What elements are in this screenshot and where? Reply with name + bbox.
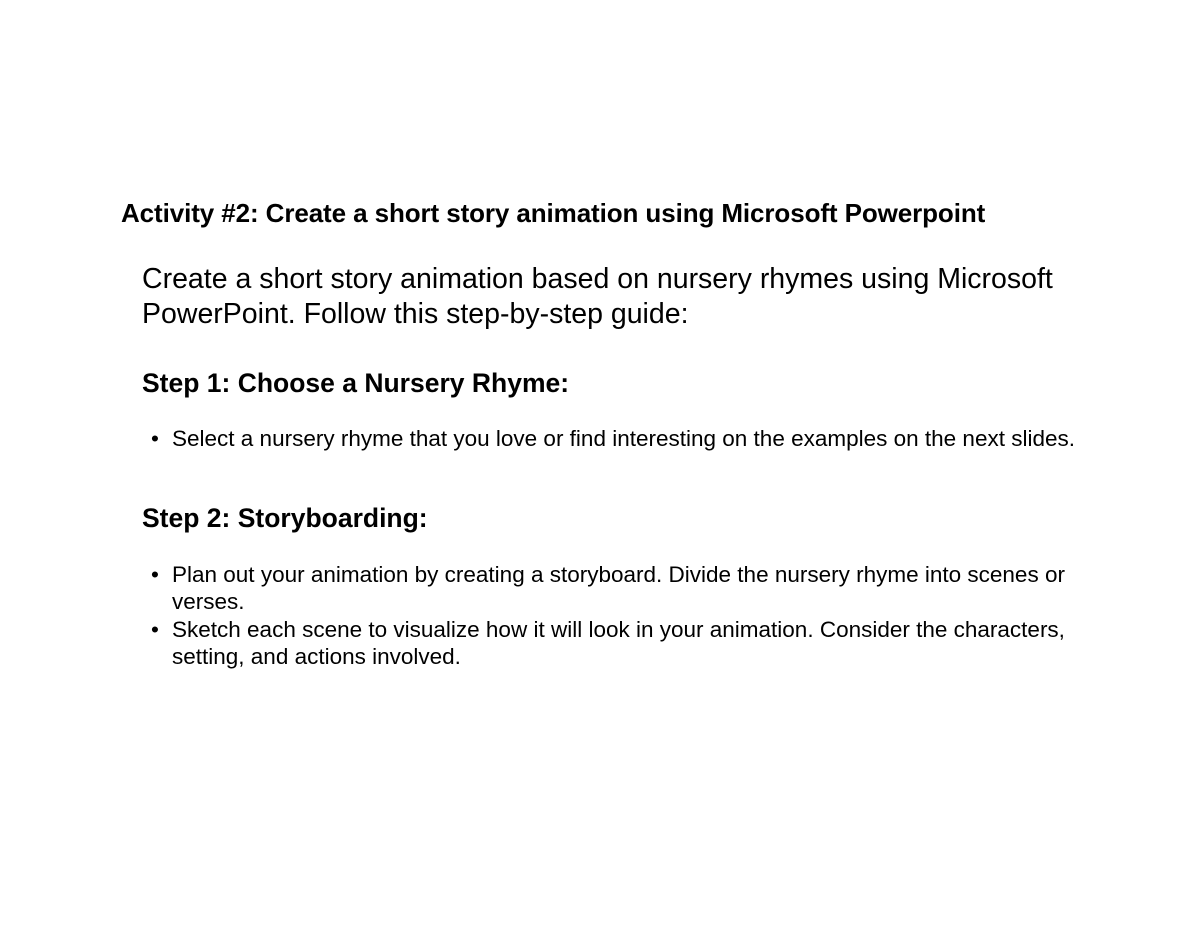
list-item: • Sketch each scene to visualize how it … [151, 616, 1116, 671]
list-item-text: Select a nursery rhyme that you love or … [172, 426, 1075, 451]
bullet-point-icon: • [151, 616, 159, 644]
step-1-bullet-list: • Select a nursery rhyme that you love o… [142, 425, 1117, 453]
slide-body: Create a short story animation based on … [142, 262, 1117, 671]
list-item-text: Plan out your animation by creating a st… [172, 562, 1065, 615]
step-2-bullet-list: • Plan out your animation by creating a … [142, 561, 1117, 671]
bullet-point-icon: • [151, 561, 159, 589]
list-item: • Plan out your animation by creating a … [151, 561, 1116, 616]
step-1-heading: Step 1: Choose a Nursery Rhyme: [142, 368, 1117, 398]
list-item-text: Sketch each scene to visualize how it wi… [172, 617, 1065, 670]
slide-canvas: Activity #2: Create a short story animat… [0, 0, 1200, 927]
step-2-heading: Step 2: Storyboarding: [142, 503, 1117, 533]
list-item: • Select a nursery rhyme that you love o… [151, 425, 1116, 453]
bullet-point-icon: • [151, 425, 159, 453]
page-title: Activity #2: Create a short story animat… [121, 198, 1141, 228]
intro-paragraph: Create a short story animation based on … [142, 262, 1107, 332]
